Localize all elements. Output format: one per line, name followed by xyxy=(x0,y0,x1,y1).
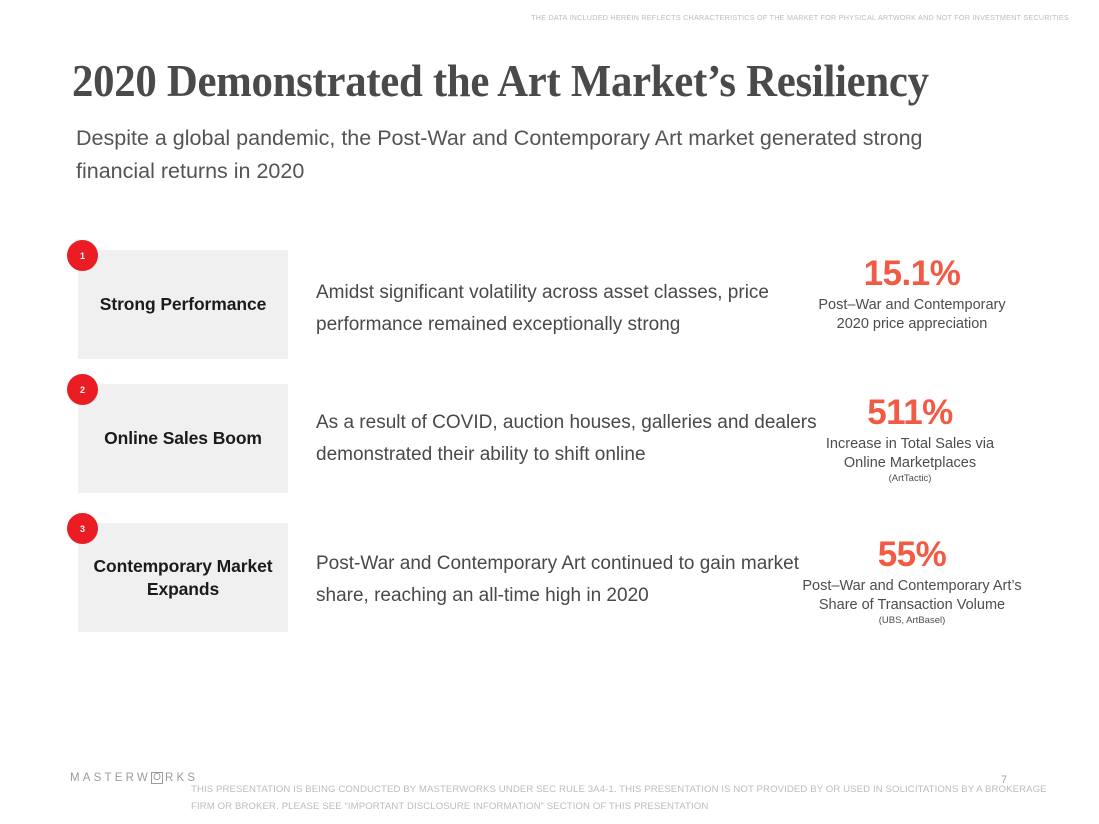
top-disclaimer: THE DATA INCLUDED HEREIN REFLECTS CHARAC… xyxy=(531,13,1069,22)
label-text: Online Sales Boom xyxy=(98,427,268,450)
page-title: 2020 Demonstrated the Art Market’s Resil… xyxy=(72,56,929,107)
step-badge-1: 1 xyxy=(67,240,98,271)
stat-source: (UBS, ArtBasel) xyxy=(782,614,1042,627)
masterworks-logo: MASTERWORKS xyxy=(70,772,198,784)
stat-value: 15.1% xyxy=(782,254,1042,294)
stat-value: 511% xyxy=(780,393,1040,433)
stat-source: (ArtTactic) xyxy=(780,472,1040,485)
body-text-1: Amidst significant volatility across ass… xyxy=(316,277,836,341)
stat-value: 55% xyxy=(782,535,1042,575)
stat-block-3: 55% Post–War and Contemporary Art’s Shar… xyxy=(782,535,1042,627)
logo-boxed-o-icon: O xyxy=(151,772,163,784)
label-box-1: Strong Performance xyxy=(78,250,288,359)
label-box-2: Online Sales Boom xyxy=(78,384,288,493)
stat-block-1: 15.1% Post–War and Contemporary 2020 pri… xyxy=(782,254,1042,333)
step-badge-2: 2 xyxy=(67,374,98,405)
stat-description: Post–War and Contemporary 2020 price app… xyxy=(782,296,1042,333)
body-text-3: Post-War and Contemporary Art continued … xyxy=(316,548,836,612)
page-number: 7 xyxy=(1001,774,1007,786)
page-subtitle: Despite a global pandemic, the Post-War … xyxy=(76,122,1006,188)
label-text: Strong Performance xyxy=(94,293,272,316)
stat-description: Increase in Total Sales via Online Marke… xyxy=(780,435,1040,472)
stat-description: Post–War and Contemporary Art’s Share of… xyxy=(782,577,1042,614)
stat-block-2: 511% Increase in Total Sales via Online … xyxy=(780,393,1040,485)
label-text: Contemporary Market Expands xyxy=(78,555,288,601)
step-badge-3: 3 xyxy=(67,513,98,544)
body-text-2: As a result of COVID, auction houses, ga… xyxy=(316,407,836,471)
footer-disclaimer: THIS PRESENTATION IS BEING CONDUCTED BY … xyxy=(191,781,1049,815)
label-box-3: Contemporary Market Expands xyxy=(78,523,288,632)
logo-text-before: MASTERW xyxy=(70,772,151,784)
